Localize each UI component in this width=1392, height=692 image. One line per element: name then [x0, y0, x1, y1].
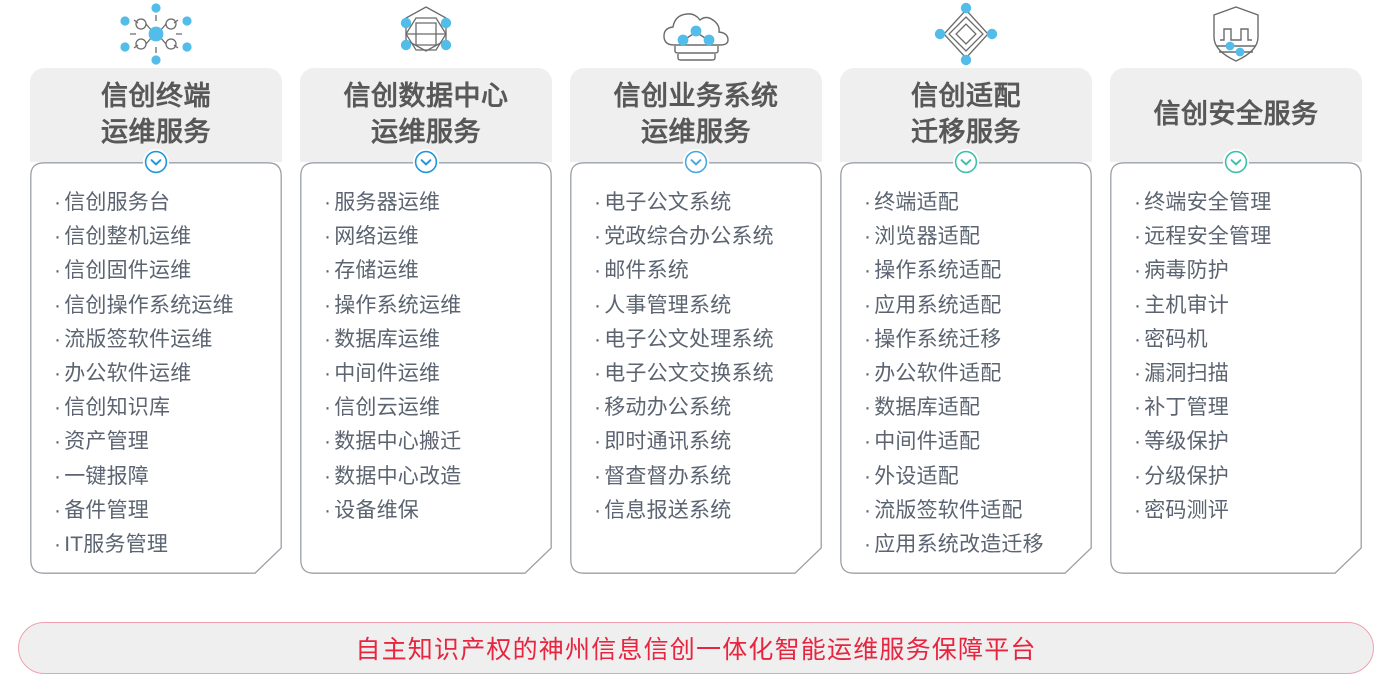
bullet-icon: · [324, 225, 331, 248]
list-item[interactable]: ·信创云运维 [324, 391, 552, 425]
list-item-label: 外设适配 [874, 465, 959, 488]
list-item[interactable]: ·病毒防护 [1134, 254, 1362, 288]
list-item-label: 电子公文交换系统 [604, 362, 774, 385]
list-item[interactable]: ·外设适配 [864, 460, 1092, 494]
bullet-icon: · [54, 191, 61, 214]
service-column-5[interactable]: 信创安全服务 ·终端安全管理 ·远程安全管理 ·病毒防护 ·主机审计 [1110, 0, 1362, 600]
list-item-label: 漏洞扫描 [1144, 362, 1229, 385]
platform-banner-text: 自主知识产权的神州信息信创一体化智能运维服务保障平台 [355, 630, 1036, 666]
column-title: 信创业务系统 运维服务 [614, 79, 779, 150]
list-item[interactable]: ·信创操作系统运维 [54, 289, 282, 323]
list-item[interactable]: ·浏览器适配 [864, 220, 1092, 254]
list-item[interactable]: ·数据库适配 [864, 391, 1092, 425]
list-item[interactable]: ·电子公文系统 [594, 186, 822, 220]
list-item-label: 督查督办系统 [604, 465, 731, 488]
bullet-icon: · [864, 328, 871, 351]
list-item-label: 邮件系统 [604, 259, 689, 282]
list-item-label: 服务器运维 [334, 191, 440, 214]
list-item[interactable]: ·应用系统改造迁移 [864, 528, 1092, 562]
bullet-icon: · [54, 465, 61, 488]
list-item[interactable]: ·操作系统迁移 [864, 323, 1092, 357]
list-item-label: 操作系统运维 [334, 294, 461, 317]
column-header-card: 信创业务系统 运维服务 [570, 68, 822, 162]
service-column-4[interactable]: 信创适配 迁移服务 ·终端适配 ·浏览器适配 ·操作系统适配 ·应用系统适配 [840, 0, 1092, 600]
list-item-label: 办公软件适配 [874, 362, 1001, 385]
list-item-label: 设备维保 [334, 499, 419, 522]
bullet-icon: · [864, 259, 871, 282]
column-title: 信创数据中心 运维服务 [344, 79, 509, 150]
list-item[interactable]: ·督查督办系统 [594, 460, 822, 494]
bullet-icon: · [864, 499, 871, 522]
list-item[interactable]: ·信创知识库 [54, 391, 282, 425]
service-item-list: ·信创服务台 ·信创整机运维 ·信创固件运维 ·信创操作系统运维 ·流版签软件运… [30, 162, 282, 562]
column-body-card: ·终端适配 ·浏览器适配 ·操作系统适配 ·应用系统适配 ·操作系统迁移 ·办公… [840, 162, 1092, 600]
bullet-icon: · [864, 465, 871, 488]
list-item-label: 应用系统适配 [874, 294, 1001, 317]
service-column-2[interactable]: 信创数据中心 运维服务 ·服务器运维 ·网络运维 ·存储运维 ·操作系统运维 [300, 0, 552, 600]
list-item-label: 信创整机运维 [64, 225, 191, 248]
column-header-card: 信创终端 运维服务 [30, 68, 282, 162]
list-item-label: 备件管理 [64, 499, 149, 522]
service-item-list: ·终端安全管理 ·远程安全管理 ·病毒防护 ·主机审计 ·密码机 ·漏洞扫描 ·… [1110, 162, 1362, 528]
list-item-label: 操作系统适配 [874, 259, 1001, 282]
column-title: 信创安全服务 [1154, 97, 1319, 133]
network-nodes-icon [30, 0, 282, 68]
bullet-icon: · [864, 225, 871, 248]
list-item-label: 信创服务台 [64, 191, 170, 214]
bullet-icon: · [54, 225, 61, 248]
list-item-label: 资产管理 [64, 430, 149, 453]
list-item-label: 流版签软件运维 [64, 328, 212, 351]
bullet-icon: · [594, 499, 601, 522]
list-item[interactable]: ·操作系统适配 [864, 254, 1092, 288]
bullet-icon: · [864, 396, 871, 419]
cloud-network-icon [570, 0, 822, 68]
list-item-label: 信创操作系统运维 [64, 294, 234, 317]
list-item[interactable]: ·网络运维 [324, 220, 552, 254]
list-item-label: IT服务管理 [64, 533, 168, 556]
list-item[interactable]: ·等级保护 [1134, 425, 1362, 459]
list-item[interactable]: ·应用系统适配 [864, 289, 1092, 323]
bullet-icon: · [594, 294, 601, 317]
list-item[interactable]: ·分级保护 [1134, 460, 1362, 494]
chevron-down-icon[interactable] [143, 149, 169, 175]
bullet-icon: · [594, 191, 601, 214]
list-item[interactable]: ·邮件系统 [594, 254, 822, 288]
list-item-label: 电子公文处理系统 [604, 328, 774, 351]
bullet-icon: · [54, 533, 61, 556]
list-item-label: 网络运维 [334, 225, 419, 248]
list-item-label: 主机审计 [1144, 294, 1229, 317]
column-title: 信创适配 迁移服务 [911, 79, 1021, 150]
list-item[interactable]: ·流版签软件运维 [54, 323, 282, 357]
service-item-list: ·终端适配 ·浏览器适配 ·操作系统适配 ·应用系统适配 ·操作系统迁移 ·办公… [840, 162, 1092, 562]
column-body-card: ·电子公文系统 ·党政综合办公系统 ·邮件系统 ·人事管理系统 ·电子公文处理系… [570, 162, 822, 600]
column-body-card: ·信创服务台 ·信创整机运维 ·信创固件运维 ·信创操作系统运维 ·流版签软件运… [30, 162, 282, 600]
list-item-label: 终端安全管理 [1144, 191, 1271, 214]
list-item-label: 人事管理系统 [604, 294, 731, 317]
list-item[interactable]: ·中间件适配 [864, 425, 1092, 459]
bullet-icon: · [324, 499, 331, 522]
list-item[interactable]: ·办公软件运维 [54, 357, 282, 391]
list-item[interactable]: ·设备维保 [324, 494, 552, 528]
list-item-label: 分级保护 [1144, 465, 1229, 488]
bullet-icon: · [324, 465, 331, 488]
list-item[interactable]: ·漏洞扫描 [1134, 357, 1362, 391]
list-item[interactable]: ·远程安全管理 [1134, 220, 1362, 254]
list-item[interactable]: ·存储运维 [324, 254, 552, 288]
list-item[interactable]: ·党政综合办公系统 [594, 220, 822, 254]
list-item[interactable]: ·电子公文处理系统 [594, 323, 822, 357]
bullet-icon: · [54, 396, 61, 419]
list-item-label: 数据库运维 [334, 328, 440, 351]
list-item[interactable]: ·终端适配 [864, 186, 1092, 220]
service-item-list: ·服务器运维 ·网络运维 ·存储运维 ·操作系统运维 ·数据库运维 ·中间件运维… [300, 162, 552, 528]
column-body-card: ·服务器运维 ·网络运维 ·存储运维 ·操作系统运维 ·数据库运维 ·中间件运维… [300, 162, 552, 600]
list-item-label: 终端适配 [874, 191, 959, 214]
bullet-icon: · [324, 396, 331, 419]
list-item[interactable]: ·办公软件适配 [864, 357, 1092, 391]
bullet-icon: · [1134, 259, 1141, 282]
list-item-label: 操作系统迁移 [874, 328, 1001, 351]
bullet-icon: · [1134, 465, 1141, 488]
list-item-label: 远程安全管理 [1144, 225, 1271, 248]
chevron-down-icon[interactable] [1223, 149, 1249, 175]
list-item[interactable]: ·流版签软件适配 [864, 494, 1092, 528]
bullet-icon: · [1134, 499, 1141, 522]
service-item-list: ·电子公文系统 ·党政综合办公系统 ·邮件系统 ·人事管理系统 ·电子公文处理系… [570, 162, 822, 528]
bullet-icon: · [594, 225, 601, 248]
list-item-label: 病毒防护 [1144, 259, 1229, 282]
bullet-icon: · [864, 430, 871, 453]
list-item-label: 信创云运维 [334, 396, 440, 419]
list-item[interactable]: ·数据中心改造 [324, 460, 552, 494]
list-item-label: 数据中心改造 [334, 465, 461, 488]
bullet-icon: · [594, 396, 601, 419]
bullet-icon: · [324, 362, 331, 385]
list-item-label: 等级保护 [1144, 430, 1229, 453]
bullet-icon: · [54, 430, 61, 453]
bullet-icon: · [864, 294, 871, 317]
list-item-label: 办公软件运维 [64, 362, 191, 385]
chevron-down-icon[interactable] [953, 149, 979, 175]
list-item-label: 电子公文系统 [604, 191, 731, 214]
column-title: 信创终端 运维服务 [101, 79, 211, 150]
bullet-icon: · [324, 294, 331, 317]
bullet-icon: · [54, 362, 61, 385]
bullet-icon: · [324, 430, 331, 453]
list-item[interactable]: ·备件管理 [54, 494, 282, 528]
bullet-icon: · [54, 499, 61, 522]
bullet-icon: · [1134, 328, 1141, 351]
bullet-icon: · [54, 328, 61, 351]
list-item-label: 信息报送系统 [604, 499, 731, 522]
bullet-icon: · [1134, 362, 1141, 385]
diagram-canvas: 信创终端 运维服务 ·信创服务台 ·信创整机运维 ·信创固件运维 ·信创操作系统… [0, 0, 1392, 692]
bullet-icon: · [594, 259, 601, 282]
list-item[interactable]: ·一键报障 [54, 460, 282, 494]
shield-security-icon [1110, 0, 1362, 68]
list-item[interactable]: ·操作系统运维 [324, 289, 552, 323]
diamond-migration-icon [840, 0, 1092, 68]
chevron-down-icon[interactable] [413, 149, 439, 175]
bullet-icon: · [594, 465, 601, 488]
list-item[interactable]: ·IT服务管理 [54, 528, 282, 562]
column-header-card: 信创数据中心 运维服务 [300, 68, 552, 162]
column-header-card: 信创适配 迁移服务 [840, 68, 1092, 162]
list-item[interactable]: ·中间件运维 [324, 357, 552, 391]
list-item[interactable]: ·密码机 [1134, 323, 1362, 357]
list-item[interactable]: ·人事管理系统 [594, 289, 822, 323]
bullet-icon: · [864, 191, 871, 214]
bullet-icon: · [1134, 225, 1141, 248]
list-item-label: 存储运维 [334, 259, 419, 282]
list-item[interactable]: ·信创固件运维 [54, 254, 282, 288]
list-item-label: 即时通讯系统 [604, 430, 731, 453]
bullet-icon: · [864, 362, 871, 385]
list-item[interactable]: ·信创整机运维 [54, 220, 282, 254]
chevron-down-icon[interactable] [683, 149, 709, 175]
service-column-3[interactable]: 信创业务系统 运维服务 ·电子公文系统 ·党政综合办公系统 ·邮件系统 ·人事管… [570, 0, 822, 600]
bullet-icon: · [594, 362, 601, 385]
list-item-label: 数据中心搬迁 [334, 430, 461, 453]
list-item[interactable]: ·补丁管理 [1134, 391, 1362, 425]
list-item-label: 信创知识库 [64, 396, 170, 419]
list-item-label: 移动办公系统 [604, 396, 731, 419]
bullet-icon: · [1134, 430, 1141, 453]
bullet-icon: · [54, 294, 61, 317]
bullet-icon: · [864, 533, 871, 556]
platform-banner: 自主知识产权的神州信息信创一体化智能运维服务保障平台 [18, 622, 1374, 674]
bullet-icon: · [594, 430, 601, 453]
list-item-label: 密码测评 [1144, 499, 1229, 522]
list-item[interactable]: ·信息报送系统 [594, 494, 822, 528]
list-item[interactable]: ·信创服务台 [54, 186, 282, 220]
bullet-icon: · [1134, 396, 1141, 419]
bullet-icon: · [1134, 191, 1141, 214]
list-item[interactable]: ·主机审计 [1134, 289, 1362, 323]
list-item[interactable]: ·即时通讯系统 [594, 425, 822, 459]
list-item[interactable]: ·数据库运维 [324, 323, 552, 357]
list-item[interactable]: ·移动办公系统 [594, 391, 822, 425]
column-body-card: ·终端安全管理 ·远程安全管理 ·病毒防护 ·主机审计 ·密码机 ·漏洞扫描 ·… [1110, 162, 1362, 600]
list-item[interactable]: ·终端安全管理 [1134, 186, 1362, 220]
list-item[interactable]: ·密码测评 [1134, 494, 1362, 528]
list-item-label: 流版签软件适配 [874, 499, 1022, 522]
list-item[interactable]: ·服务器运维 [324, 186, 552, 220]
bullet-icon: · [54, 259, 61, 282]
service-column-1[interactable]: 信创终端 运维服务 ·信创服务台 ·信创整机运维 ·信创固件运维 ·信创操作系统… [30, 0, 282, 600]
bullet-icon: · [324, 328, 331, 351]
list-item-label: 信创固件运维 [64, 259, 191, 282]
list-item[interactable]: ·电子公文交换系统 [594, 357, 822, 391]
list-item[interactable]: ·数据中心搬迁 [324, 425, 552, 459]
list-item-label: 浏览器适配 [874, 225, 980, 248]
column-header-card: 信创安全服务 [1110, 68, 1362, 162]
hexagon-cluster-icon [300, 0, 552, 68]
list-item-label: 党政综合办公系统 [604, 225, 774, 248]
bullet-icon: · [324, 259, 331, 282]
bullet-icon: · [324, 191, 331, 214]
bullet-icon: · [1134, 294, 1141, 317]
list-item-label: 补丁管理 [1144, 396, 1229, 419]
list-item-label: 中间件运维 [334, 362, 440, 385]
list-item-label: 中间件适配 [874, 430, 980, 453]
list-item-label: 应用系统改造迁移 [874, 533, 1044, 556]
list-item[interactable]: ·资产管理 [54, 425, 282, 459]
list-item-label: 密码机 [1144, 328, 1208, 351]
list-item-label: 一键报障 [64, 465, 149, 488]
bullet-icon: · [594, 328, 601, 351]
list-item-label: 数据库适配 [874, 396, 980, 419]
service-columns: 信创终端 运维服务 ·信创服务台 ·信创整机运维 ·信创固件运维 ·信创操作系统… [30, 0, 1362, 600]
